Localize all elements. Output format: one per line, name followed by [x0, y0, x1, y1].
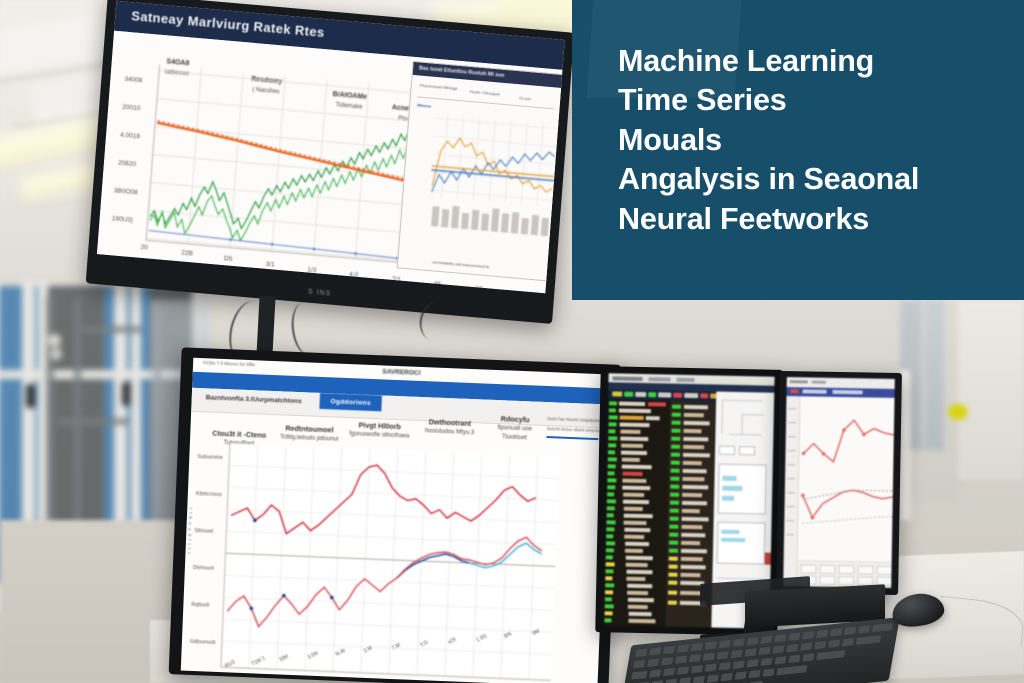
title-line-2: Time Series [618, 81, 1002, 120]
column-header: Pivgt Hl0orb fgoruxwofle otlocthaea [348, 420, 411, 442]
top-monitor-content: S4OA8 tatbesser Resdoiey ( Nacohes B/AtO… [97, 31, 562, 294]
overlay-title: Machine Learning Time Series Mouals Anga… [618, 42, 1002, 239]
title-line-4: Angalysis in Seaonal [618, 160, 1002, 199]
main-monitor-screen: SAVREROCI FiObs T lt Mtoreu for bffte Ba… [181, 358, 610, 683]
y-axis-label: Rqttuxtt [191, 602, 209, 609]
column-header: Dwthootrant hostutudou Mtyu.3 [418, 417, 481, 439]
second-window-chart [399, 108, 561, 261]
top-monitor-second-window: Bas tuvat Ettunttou Ruotuh Mt suo Pesoor… [397, 61, 564, 282]
active-indicator-underline [546, 436, 598, 440]
column-header: Rdocyfu ftponuall uoe Ttuoktuet [486, 414, 543, 444]
main-monitor: SAVREROCI FiObs T lt Mtoreu for bffte Ba… [169, 347, 622, 683]
right-monitor-chart [798, 399, 895, 551]
title-line-5: Neural Feetworks [618, 200, 1002, 239]
screenshot-scene: Satneay Marlviurg Ratek Rtes S4OA8 tatbe… [0, 0, 1024, 683]
y-axis-label: Sutourome [197, 454, 223, 461]
title-overlay-panel: Machine Learning Time Series Mouals Anga… [572, 0, 1024, 300]
y-axis-label: Kttetcrosos [196, 491, 222, 498]
tab-ogddorions[interactable]: Ogddorions [319, 393, 382, 411]
right-monitor [776, 371, 902, 595]
y-axis-label: Dtehouot [193, 565, 214, 572]
yellow-indicator [948, 404, 968, 420]
x-axis-label: 3/1 [265, 261, 275, 269]
window-label: Ct uon [519, 95, 531, 101]
right-window-titlebar [787, 387, 895, 398]
title-line-1: Machine Learning [618, 42, 1002, 81]
x-axis-label: D5 [224, 255, 233, 263]
window-title: SAVREROCI [382, 368, 420, 377]
window-label: Pesooruouel Mtntsge [420, 83, 458, 91]
lab-equipment-column [924, 300, 944, 450]
y-axis-label: Sthouwt [194, 528, 213, 535]
top-monitor-screen: Satneay Marlviurg Ratek Rtes S4OA8 tatbe… [97, 1, 565, 293]
lab-cabinet [958, 300, 1024, 480]
breadcrumb: FiObs T lt Mtoreu for bffte [203, 360, 255, 367]
x-axis-label: 22B [181, 249, 193, 257]
title-line-3: Mouals [618, 121, 1002, 160]
terminal-code-pane[interactable] [603, 399, 670, 626]
top-monitor: Satneay Marlviurg Ratek Rtes S4OA8 tatbe… [86, 0, 575, 324]
window-label: Pluntt / Pltooquot [469, 89, 500, 97]
x-axis-label: 20 [140, 244, 148, 252]
y-axis-label: Gdtounuub [190, 639, 216, 646]
right-monitor-screen [783, 377, 895, 588]
